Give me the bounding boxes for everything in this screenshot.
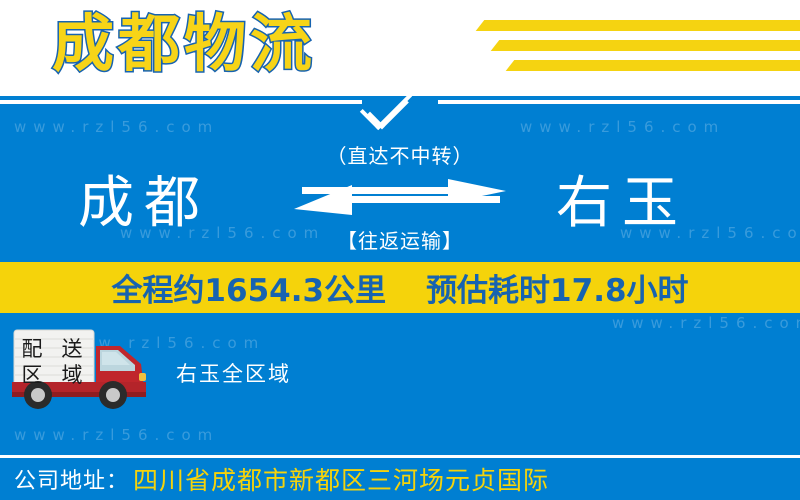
stripe-1 xyxy=(476,20,800,31)
address-label: 公司地址： xyxy=(14,463,129,495)
round-trip-note: 【往返运输】 xyxy=(280,225,520,254)
footer-address-bar: 公司地址： 四川省成都市新都区三河场元贞国际 xyxy=(0,458,800,500)
destination-city: 右玉 xyxy=(556,158,688,239)
distance-value: 全程约1654.3公里 xyxy=(111,265,386,310)
banner-header: 成都物流 xyxy=(0,0,800,96)
stripe-3 xyxy=(506,60,800,71)
stripe-2 xyxy=(491,40,800,51)
delivery-area-row: 配 送 区 域 右玉全区域 xyxy=(0,324,800,416)
duration-value: 预估耗时17.8小时 xyxy=(426,265,689,310)
watermark: www.rzl56.com xyxy=(14,118,219,136)
truck-box-char-3: 区 xyxy=(22,363,43,387)
watermark: www.rzl56.com xyxy=(14,426,219,444)
page-title: 成都物流 xyxy=(52,4,316,84)
metrics-band: 全程约1654.3公里 预估耗时17.8小时 xyxy=(0,262,800,313)
direct-shipping-note: （直达不中转） xyxy=(280,140,520,169)
logistics-banner: 成都物流 www.rzl56.com www.rzl56.com www.rzl… xyxy=(0,0,800,500)
divider-line-left xyxy=(0,100,362,104)
watermark: www.rzl56.com xyxy=(520,118,725,136)
truck-box-char-4: 域 xyxy=(62,363,83,387)
origin-city: 成都 xyxy=(78,158,210,239)
bidirectional-arrow-icon xyxy=(294,179,506,221)
address-value: 四川省成都市新都区三河场元贞国际 xyxy=(133,461,549,497)
route-center-block: （直达不中转） 【往返运输】 xyxy=(280,140,520,254)
truck-box-char-2: 送 xyxy=(62,337,83,361)
delivery-truck-icon: 配 送 区 域 xyxy=(8,324,158,412)
divider-line-right xyxy=(438,100,800,104)
decorative-stripes xyxy=(420,14,800,84)
banner-body: www.rzl56.com www.rzl56.com www.rzl56.co… xyxy=(0,96,800,500)
delivery-area-text: 右玉全区域 xyxy=(176,358,291,388)
truck-box-char-1: 配 xyxy=(22,337,43,361)
